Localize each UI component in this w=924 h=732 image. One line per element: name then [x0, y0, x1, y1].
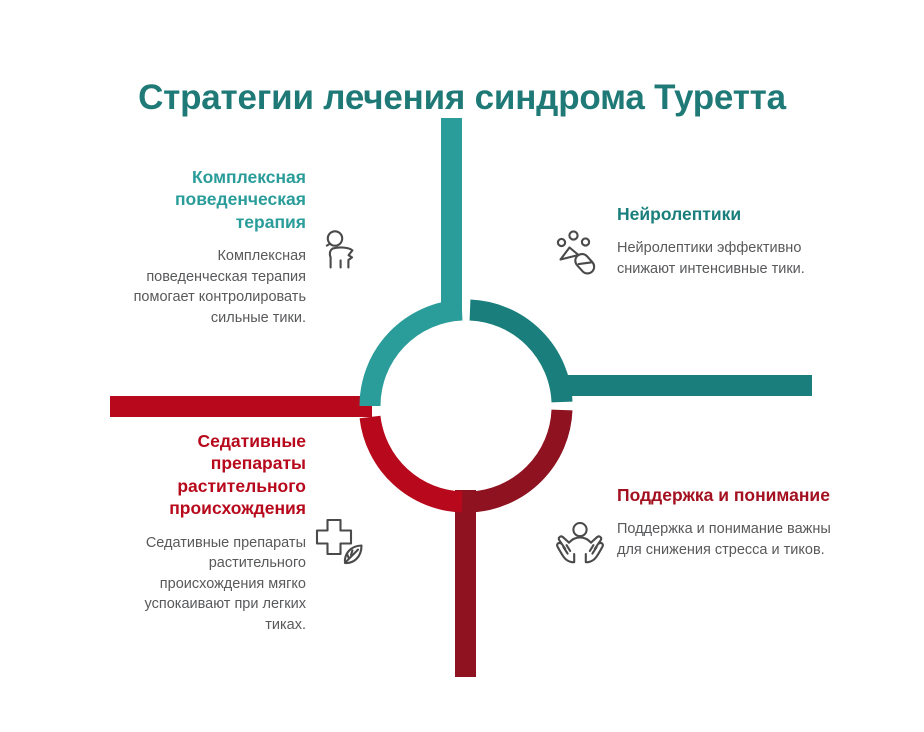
quadrant-cbt-heading: Комплексная поведенческая терапия: [118, 166, 306, 233]
infographic-canvas: Стратегии лечения синдрома Туретта Компл…: [0, 0, 924, 732]
spoke-right: [560, 375, 812, 396]
arc-top-right: [470, 310, 562, 402]
arc-bottom-left: [370, 417, 462, 502]
quadrant-cbt: Комплексная поведенческая терапия Компле…: [118, 166, 306, 328]
quadrant-herbal-sedatives-heading: Седативные препараты растительного проис…: [104, 430, 306, 520]
quadrant-herbal-sedatives-body: Седативные препараты растительного проис…: [104, 533, 306, 636]
arc-top-left: [370, 310, 462, 406]
spoke-down: [455, 490, 476, 677]
quadrant-herbal-sedatives: Седативные препараты растительного проис…: [104, 430, 306, 635]
quadrant-cbt-body: Комплексная поведенческая терапия помога…: [118, 246, 306, 328]
person-icon: [318, 227, 364, 273]
spoke-up: [441, 118, 462, 313]
quadrant-neuroleptics: Нейролептики Нейролептики эффективно сни…: [617, 203, 827, 280]
quadrant-neuroleptics-heading: Нейролептики: [617, 203, 827, 225]
spoke-left: [110, 396, 372, 417]
quadrant-support-heading: Поддержка и понимание: [617, 484, 833, 506]
quadrant-support-body: Поддержка и понимание важны для снижения…: [617, 519, 833, 560]
arc-bottom-right: [470, 410, 562, 502]
quadrant-support: Поддержка и понимание Поддержка и понима…: [617, 484, 833, 561]
supporting-hands-icon: [555, 521, 605, 567]
page-title: Стратегии лечения синдрома Туретта: [0, 79, 924, 118]
medical-cross-leaf-icon: [311, 517, 367, 567]
quadrant-neuroleptics-body: Нейролептики эффективно снижают интенсив…: [617, 238, 827, 279]
pills-icon: [554, 229, 602, 277]
